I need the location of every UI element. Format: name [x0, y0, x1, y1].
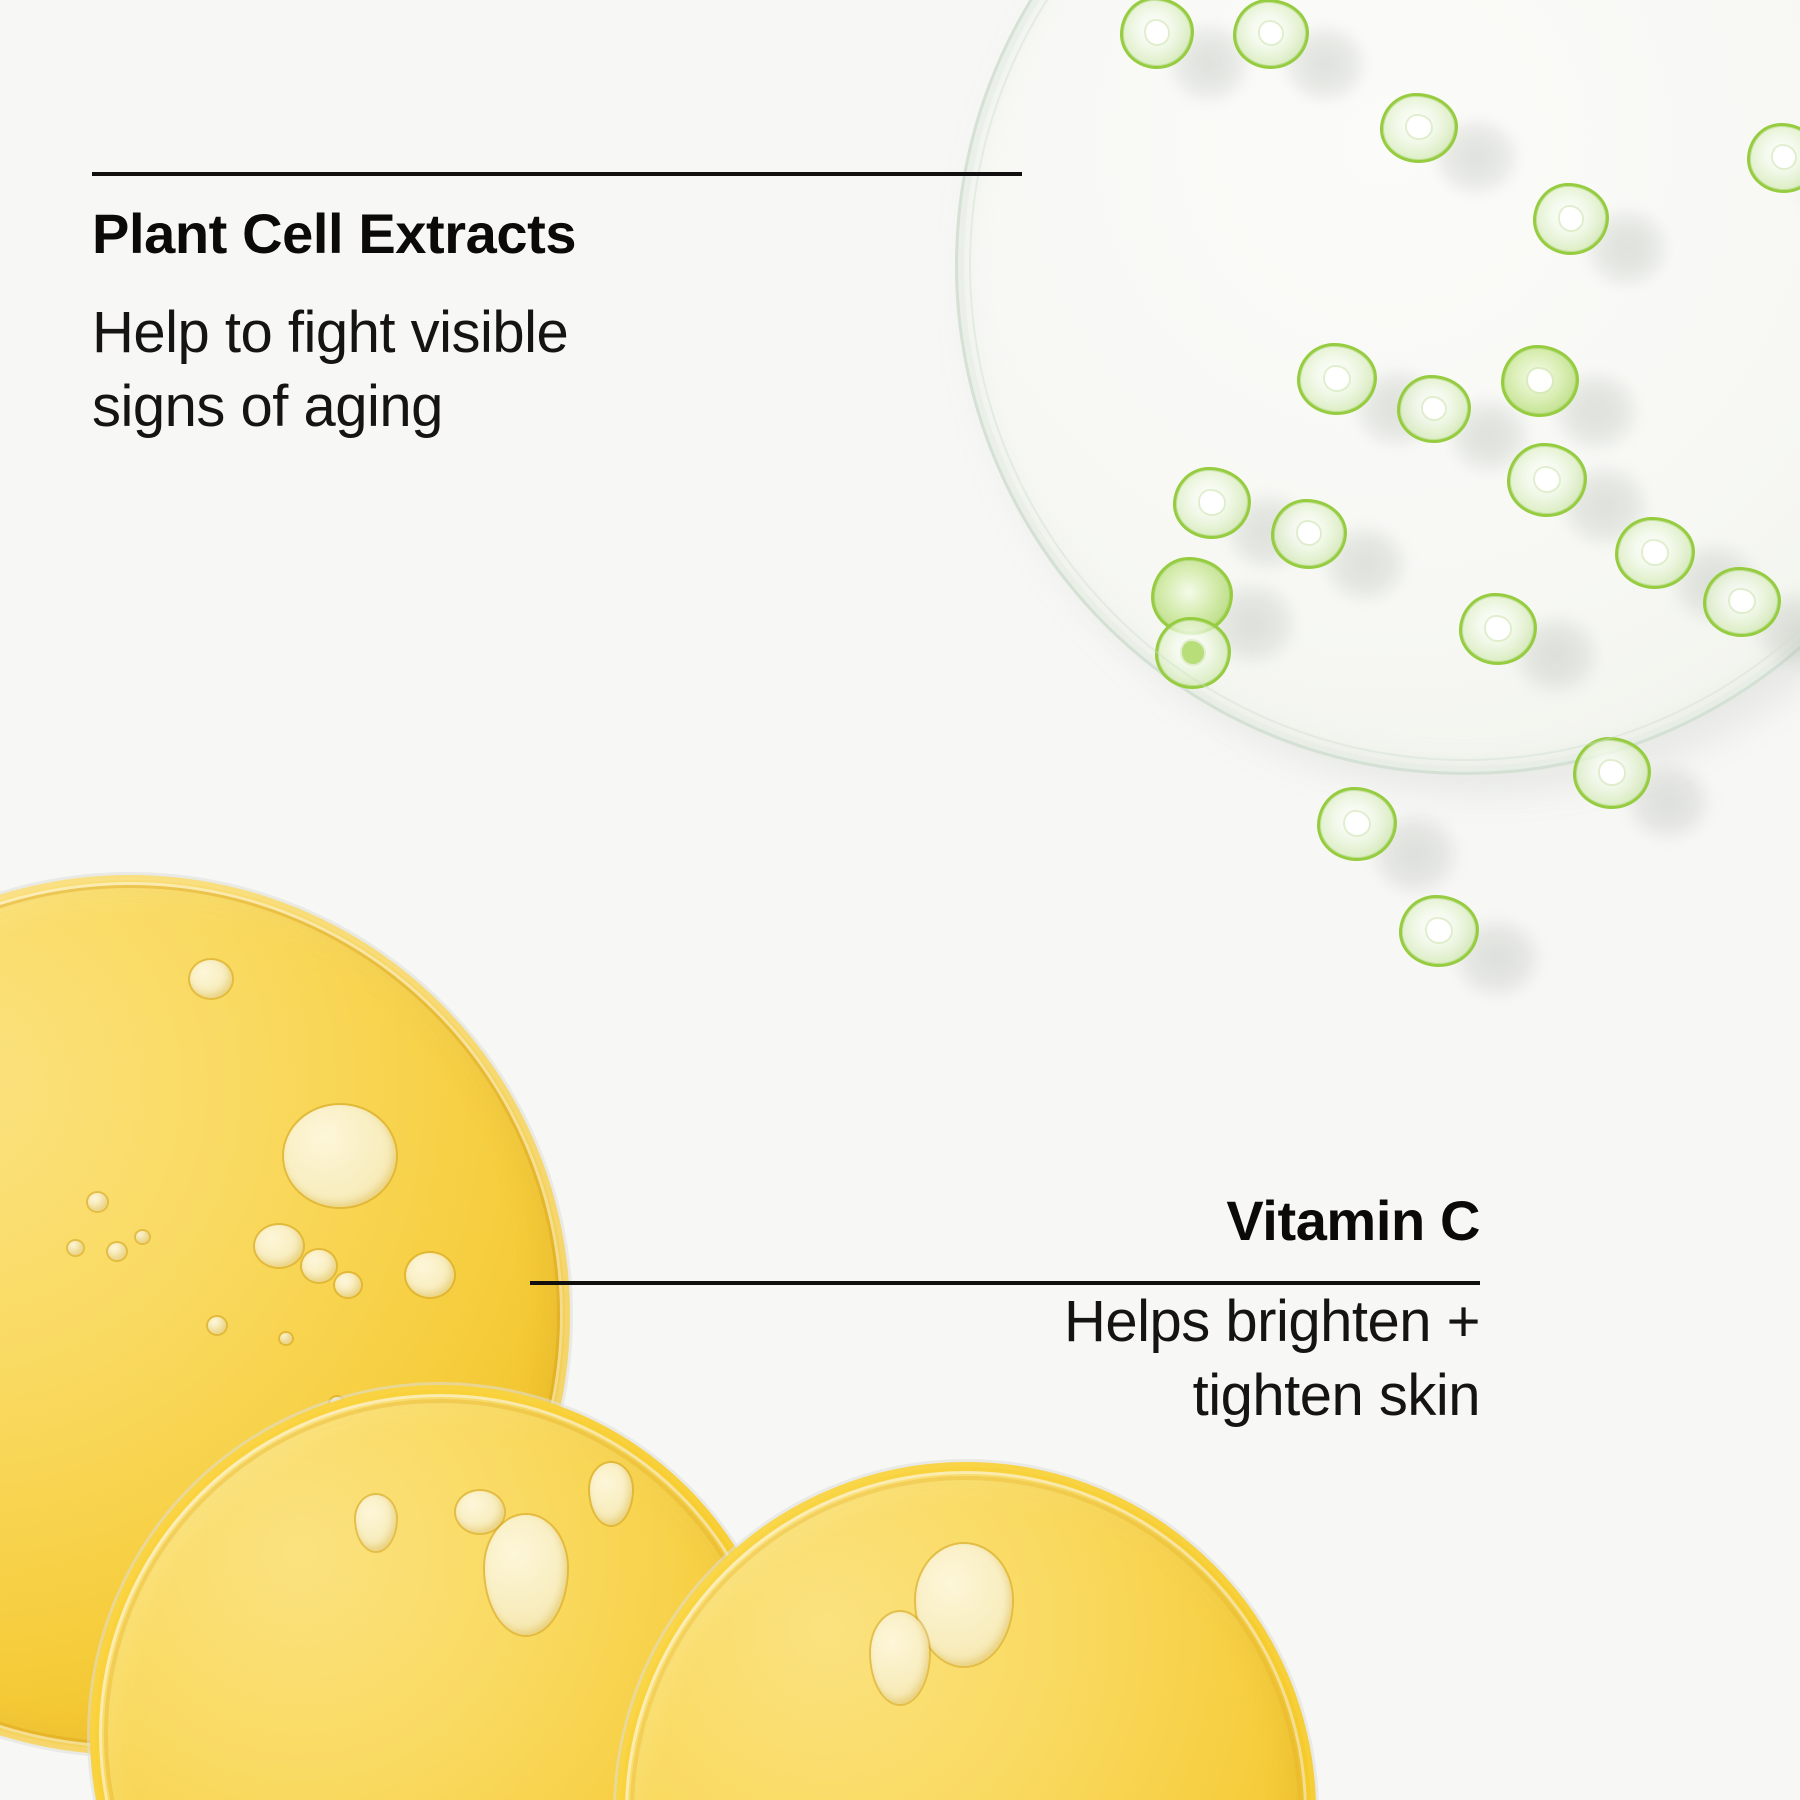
cucumber-seed	[1345, 812, 1369, 835]
cucumber-slice-shadow	[1227, 495, 1309, 569]
cucumber-slice	[1507, 443, 1587, 517]
cucumber-slice-shadow	[1285, 27, 1365, 101]
cucumber-seed	[1182, 641, 1204, 663]
cucumber-slice	[1155, 617, 1231, 689]
cucumber-seed	[1260, 22, 1282, 44]
serum-bubble	[406, 1253, 454, 1297]
cucumber-seed	[1528, 369, 1551, 391]
serum-bubble	[280, 1333, 292, 1344]
cucumber-seed	[1423, 398, 1445, 419]
cucumber-seed	[1427, 919, 1451, 941]
cucumber-slice	[1271, 499, 1347, 569]
cucumber-petri-dish	[955, 0, 1800, 775]
cucumber-seed	[1407, 116, 1430, 138]
cucumber-slice	[1397, 375, 1471, 443]
serum-bubble	[208, 1317, 226, 1334]
cucumber-seed	[1486, 617, 1509, 639]
cucumber-slice-shadow	[1170, 25, 1248, 101]
cucumber-seed	[1773, 146, 1795, 168]
cucumber-slice	[1703, 567, 1781, 637]
cucumber-seed	[1298, 522, 1320, 544]
cucumber-slice-shadow	[1325, 527, 1405, 601]
cucumber-slice	[1173, 467, 1251, 539]
cucumber-seed	[1200, 491, 1223, 513]
cucumber-slice	[1501, 345, 1579, 417]
cucumber-slice-shadow	[1757, 593, 1800, 667]
cucumber-slice	[1747, 123, 1800, 193]
cucumber-slice-shadow	[1515, 617, 1597, 693]
cucumber-slice	[1459, 593, 1537, 665]
serum-bubble	[68, 1241, 83, 1255]
serum-bubble	[108, 1243, 126, 1260]
cucumber-slice	[1380, 93, 1458, 163]
cucumber-slice	[1399, 895, 1479, 967]
serum-bubble	[284, 1105, 396, 1207]
cucumber-slice	[1533, 183, 1609, 255]
cucumber-slice-shadow	[1435, 120, 1517, 194]
vitamin-c-title: Vitamin C	[1226, 1192, 1480, 1251]
serum-bubble	[88, 1193, 107, 1211]
cucumber-seed	[1560, 207, 1582, 229]
cucumber-slice	[1120, 0, 1194, 69]
cucumber-slice-shadow	[1555, 373, 1637, 449]
serum-bubble	[335, 1273, 361, 1297]
plant-cell-extracts-body-line-1: Help to fight visible	[92, 296, 872, 370]
cucumber-seed	[1146, 21, 1168, 43]
cucumber-slice	[1573, 737, 1651, 809]
plant-cell-extracts-body: Help to fight visible signs of aging	[92, 296, 872, 444]
serum-petri-dish-right	[616, 1462, 1316, 1800]
cucumber-slice-shadow	[1587, 210, 1667, 286]
cucumber-slice	[1151, 557, 1233, 635]
cucumber-slice-shadow	[1563, 467, 1647, 545]
serum-bubble	[302, 1250, 336, 1282]
cucumber-seed	[1600, 761, 1623, 783]
plant-cell-extracts-divider	[92, 172, 1022, 176]
serum-bubble	[255, 1225, 303, 1267]
cucumber-seed	[1643, 541, 1667, 563]
cucumber-seed	[1325, 367, 1349, 389]
vitamin-c-body: Helps brighten + tighten skin	[720, 1285, 1480, 1433]
cucumber-slice-shadow	[1355, 370, 1439, 446]
cucumber-seed	[1535, 468, 1559, 491]
cucumber-slice	[1233, 0, 1309, 69]
cucumber-slice	[1297, 343, 1377, 415]
ingredient-feature-graphic: Plant Cell Extracts Help to fight visibl…	[0, 0, 1800, 1800]
cucumber-slice-shadow	[1209, 583, 1295, 663]
cucumber-slice	[1317, 787, 1397, 861]
serum-bubble	[190, 960, 232, 998]
serum-bubble	[136, 1231, 149, 1243]
cucumber-slice-shadow	[1450, 400, 1528, 472]
vitamin-c-body-line-2: tighten skin	[720, 1359, 1480, 1433]
vitamin-c-body-line-1: Helps brighten +	[720, 1285, 1480, 1359]
cucumber-slice	[1615, 517, 1695, 589]
cucumber-seed	[1730, 590, 1753, 612]
cucumber-slice-shadow	[1673, 545, 1757, 621]
plant-cell-extracts-body-line-2: signs of aging	[92, 370, 872, 444]
serum-bubble	[456, 1491, 504, 1533]
plant-cell-extracts-title: Plant Cell Extracts	[92, 205, 576, 264]
